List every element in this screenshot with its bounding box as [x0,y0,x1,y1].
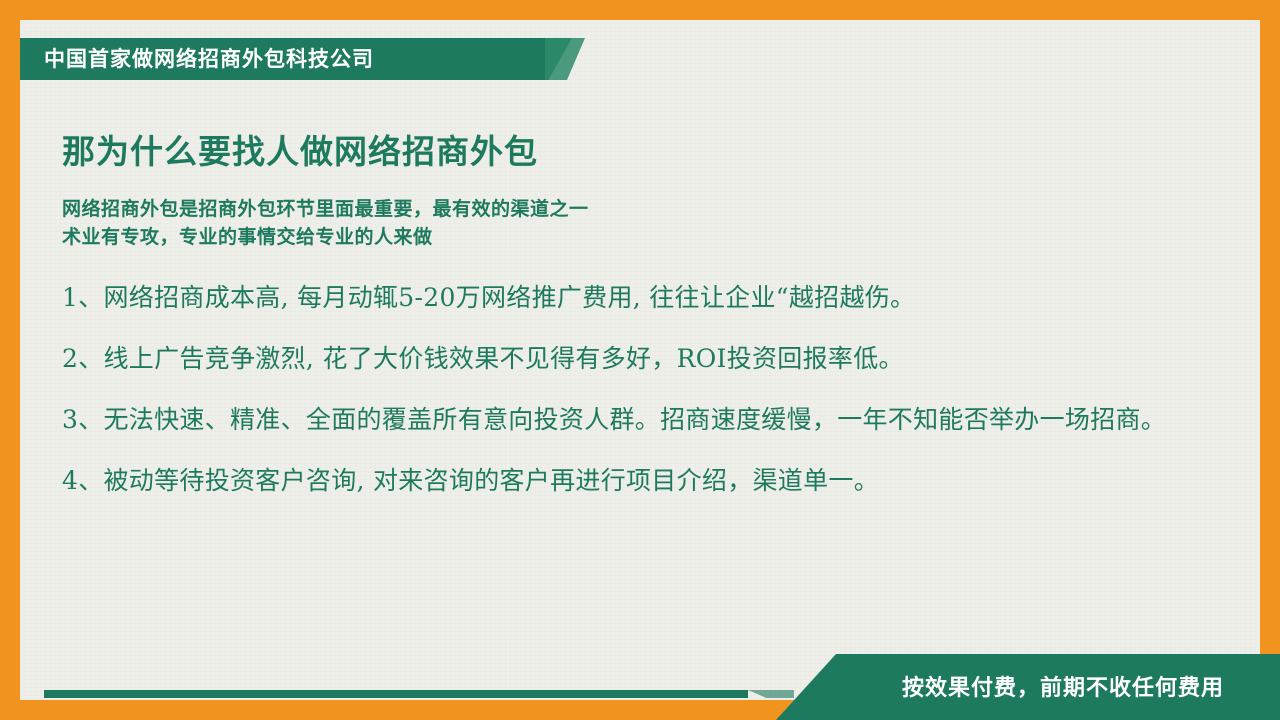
footer-tagline: 按效果付费，前期不收任何费用 [902,670,1224,702]
bullet-list: 1、网络招商成本高, 每月动辄5-20万网络推广费用, 往往让企业“越招越伤。 … [62,278,1222,500]
header-tagline: 中国首家做网络招商外包科技公司 [44,46,514,74]
subtitle-block: 网络招商外包是招商外包环节里面最重要，最有效的渠道之一 术业有专攻，专业的事情交… [62,196,1222,252]
subtitle-line-1: 网络招商外包是招商外包环节里面最重要，最有效的渠道之一 [62,196,1222,224]
list-item: 2、线上广告竞争激烈, 花了大价钱效果不见得有多好，ROI投资回报率低。 [62,339,1207,378]
slide-content: 那为什么要找人做网络招商外包 网络招商外包是招商外包环节里面最重要，最有效的渠道… [62,130,1222,522]
subtitle-line-2: 术业有专攻，专业的事情交给专业的人来做 [62,224,1222,252]
page-title: 那为什么要找人做网络招商外包 [62,130,1222,174]
footer-rule [44,690,748,698]
list-item: 3、无法快速、精准、全面的覆盖所有意向投资人群。招商速度缓慢，一年不知能否举办一… [62,400,1207,439]
list-item: 1、网络招商成本高, 每月动辄5-20万网络推广费用, 往往让企业“越招越伤。 [62,278,1207,317]
slide-root: 中国首家做网络招商外包科技公司 那为什么要找人做网络招商外包 网络招商外包是招商… [0,0,1280,720]
list-item: 4、被动等待投资客户咨询, 对来咨询的客户再进行项目介绍，渠道单一。 [62,461,1207,500]
